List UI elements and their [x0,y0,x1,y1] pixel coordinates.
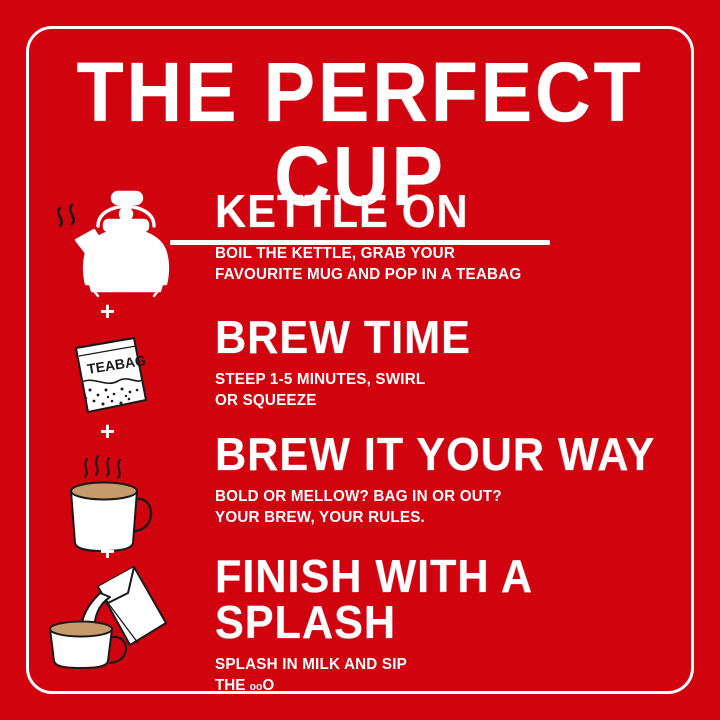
step-body: SPLASH IN MILK AND SIP THE ooO [215,654,695,698]
step-text: FINISH WITH A SPLASH SPLASH IN MILK AND … [215,551,720,698]
step-body-line: BOLD OR MELLOW? BAG IN OR OUT? [215,486,695,507]
step-heading: BREW TIME [215,314,690,360]
step-text: KETTLE ON BOIL THE KETTLE, GRAB YOUR FAV… [215,186,720,285]
brandmark-large-o: O [262,677,274,694]
step-body: BOLD OR MELLOW? BAG IN OR OUT? YOUR BREW… [215,486,695,528]
step-body-brandmark: THE ooO [215,675,695,698]
step-heading: BREW IT YOUR WAY [215,431,690,477]
step-text: BREW TIME STEEP 1-5 MINUTES, SWIRL OR SQ… [215,312,720,411]
brandmark-small-oo: oo [250,681,263,693]
steps-list: KETTLE ON BOIL THE KETTLE, GRAB YOUR FAV… [0,186,720,671]
step-heading: FINISH WITH A SPLASH [215,553,690,645]
step-body: BOIL THE KETTLE, GRAB YOUR FAVOURITE MUG… [215,243,695,285]
step-body: STEEP 1-5 MINUTES, SWIRL OR SQUEEZE [215,369,695,411]
step-body-line: BOIL THE KETTLE, GRAB YOUR [215,243,695,264]
teabag-icon: TEABAG [0,312,215,422]
step-text: BREW IT YOUR WAY BOLD OR MELLOW? BAG IN … [215,429,720,528]
step-body-line: FAVOURITE MUG AND POP IN A TEABAG [215,264,695,285]
list-item: FINISH WITH A SPLASH SPLASH IN MILK AND … [0,551,720,671]
step-body-line: STEEP 1-5 MINUTES, SWIRL [215,369,695,390]
step-body-line: OR SQUEEZE [215,390,695,411]
plus-separator-icon: + [0,418,215,444]
step-body-line: YOUR BREW, YOUR RULES. [215,507,695,528]
poster-canvas: THE PERFECT CUP [0,0,720,720]
milk-carton-pour-icon [0,551,215,671]
list-item: KETTLE ON BOIL THE KETTLE, GRAB YOUR FAV… [0,186,720,312]
step-heading: KETTLE ON [215,188,690,234]
list-item: TEABAG BREW TIME STEEP 1-5 MINUTES, SWIR… [0,312,720,429]
list-item: BREW IT YOUR WAY BOLD OR MELLOW? BAG IN … [0,429,720,551]
kettle-icon [0,186,215,302]
step-body-line: SPLASH IN MILK AND SIP [215,654,695,675]
brandmark-prefix: THE [215,677,250,694]
plus-separator-icon: + [0,538,215,564]
plus-separator-icon: + [0,298,215,324]
